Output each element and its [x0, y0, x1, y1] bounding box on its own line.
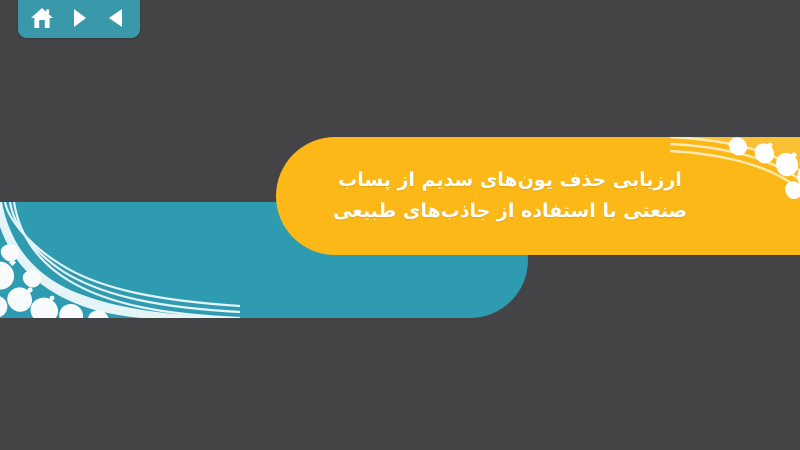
triangle-right-icon [69, 7, 89, 29]
previous-slide-button[interactable] [103, 5, 129, 31]
slide-title-line-1: ارزیابی حذف یون‌های سدیم از پساب [338, 165, 682, 196]
slide-title: ارزیابی حذف یون‌های سدیم از پساب صنعتی ب… [300, 137, 720, 255]
home-icon [30, 7, 54, 30]
presentation-slide: ارزیابی حذف یون‌های سدیم از پساب صنعتی ب… [0, 0, 800, 450]
slide-title-line-2: صنعتی با استفاده از جاذب‌های طبیعی [333, 196, 687, 227]
triangle-left-icon [106, 7, 126, 29]
arabesque-corner-ornament [0, 202, 240, 318]
next-slide-button[interactable] [66, 5, 92, 31]
home-button[interactable] [29, 5, 55, 31]
slide-navigation-bar [18, 0, 140, 38]
